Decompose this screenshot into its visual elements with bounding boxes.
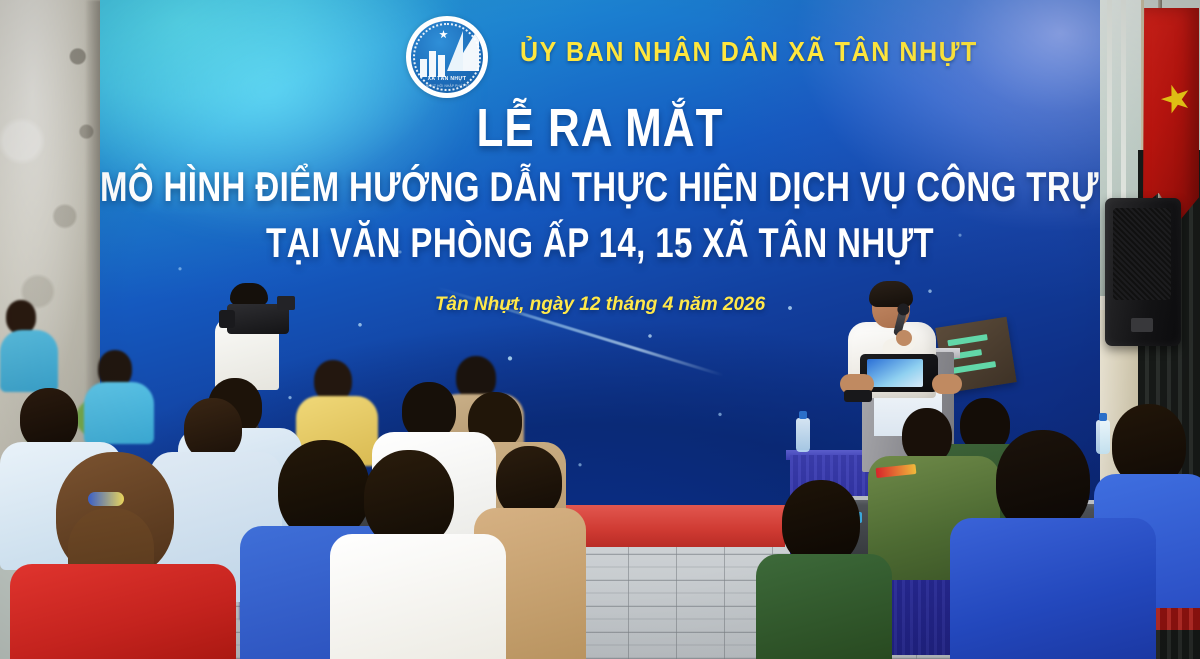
flag-star — [1157, 80, 1195, 118]
torso — [756, 554, 892, 659]
hair-tie — [88, 492, 124, 506]
torso — [0, 330, 58, 392]
pa-speaker-cabinet — [1105, 198, 1181, 346]
speaker-hand — [896, 330, 912, 346]
wristwatch — [844, 390, 872, 402]
banner-headline: LỄ RA MẮT — [100, 99, 1100, 160]
emblem-sublabel: TÂN NHỰT HỘI NHẬP PHÁT TRIỂN — [411, 84, 483, 88]
audience-person-foreground — [756, 480, 886, 659]
head — [184, 398, 242, 460]
torso — [10, 564, 236, 659]
audience-person-foreground — [330, 450, 500, 659]
xa-tan-nhut-emblem-icon: XÃ TÂN NHỰT TÂN NHỰT HỘI NHẬP PHÁT TRIỂN — [406, 16, 488, 98]
emblem-inner: XÃ TÂN NHỰT TÂN NHỰT HỘI NHẬP PHÁT TRIỂN — [411, 21, 483, 93]
speaker-hair — [869, 281, 913, 307]
torso — [950, 518, 1156, 659]
videographer-hair — [230, 283, 268, 305]
audience-person-foreground-red — [10, 452, 230, 659]
event-photo-scene: XÃ TÂN NHỰT TÂN NHỰT HỘI NHẬP PHÁT TRIỂN… — [0, 0, 1200, 659]
head — [6, 300, 36, 334]
vietnam-flag-icon — [1143, 8, 1199, 223]
emblem-label: XÃ TÂN NHỰT — [411, 76, 483, 82]
organization-title: ỦY BAN NHÂN DÂN XÃ TÂN NHỰT — [520, 36, 978, 68]
audience-person — [0, 300, 56, 390]
audience-person-foreground — [950, 430, 1150, 659]
building-icon — [429, 51, 436, 77]
water-bottle — [796, 418, 810, 452]
building-icon — [420, 59, 427, 77]
video-camera-icon — [227, 304, 289, 334]
banner-subtitle-2: TẠI VĂN PHÒNG ẤP 14, 15 XÃ TÂN NHỰT — [100, 219, 1100, 267]
torso — [330, 534, 506, 659]
banner-subtitle-1: MÔ HÌNH ĐIỂM HƯỚNG DẪN THỰC HIỆN DỊCH VỤ… — [100, 163, 1100, 211]
hand — [932, 374, 962, 394]
building-icon — [438, 55, 445, 77]
head — [20, 388, 78, 450]
